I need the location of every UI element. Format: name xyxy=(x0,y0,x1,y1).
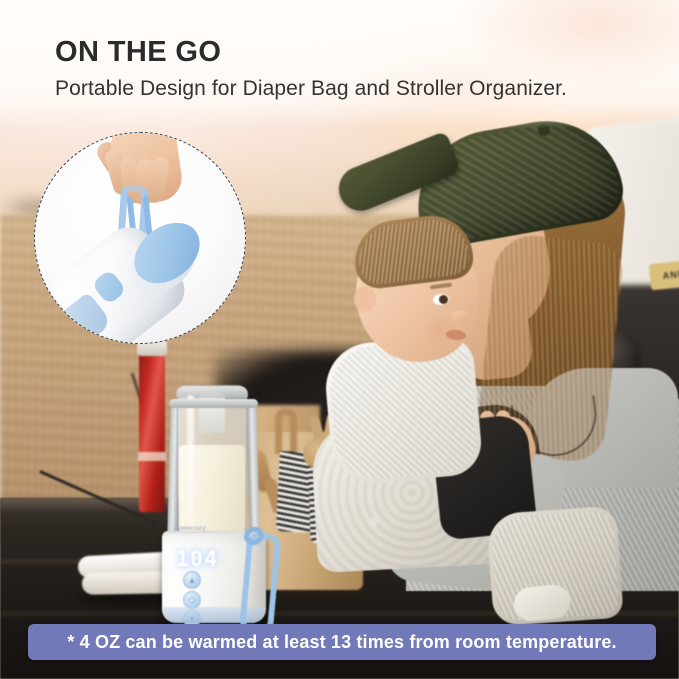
warmer-top-ring xyxy=(162,531,266,541)
baby-hair-texture xyxy=(355,216,471,287)
temperature-display: 104 xyxy=(176,547,218,571)
brand-logo: momcozy xyxy=(174,525,236,534)
mother-hand xyxy=(462,410,541,482)
baby-legs xyxy=(486,506,623,627)
vehicle-dark-body xyxy=(560,285,679,515)
mother-baseball-cap xyxy=(406,109,628,251)
cardboard-box xyxy=(180,405,320,525)
bottle-highlight xyxy=(187,395,194,530)
mother-ear xyxy=(502,254,529,287)
warmer-arm-right xyxy=(246,403,260,537)
baby-hood-texture xyxy=(327,338,480,482)
cap-brim xyxy=(332,131,462,217)
wooden-spoon xyxy=(263,477,285,513)
bunny-ear-right-icon xyxy=(322,412,337,443)
page-subtitle: Portable Design for Diaper Bag and Strol… xyxy=(55,76,567,101)
baby-mouth xyxy=(446,329,467,341)
warmer-base xyxy=(162,533,266,623)
baby-cheek xyxy=(422,316,456,346)
tent-pole xyxy=(39,470,157,525)
diaper-stack-shadow xyxy=(76,590,180,604)
baby-nose xyxy=(452,310,470,324)
truck-bed-shadow xyxy=(215,350,515,530)
baby-foot xyxy=(512,583,571,623)
mother-sweatshirt xyxy=(406,386,679,591)
tailgate-seam xyxy=(0,560,679,564)
mother-hair-strands xyxy=(475,232,625,464)
baby-ear xyxy=(354,286,376,312)
tailgate-seam-secondary xyxy=(0,612,679,615)
baby-sherpa-texture xyxy=(310,413,514,573)
mother-lips xyxy=(434,253,463,277)
baby-hood xyxy=(322,334,484,487)
mother-finger xyxy=(495,409,516,445)
baby-legs-texture xyxy=(491,510,620,622)
diaper-bottom xyxy=(82,571,174,595)
mother-figure xyxy=(318,118,679,588)
mother-face xyxy=(411,175,559,341)
page-title: ON THE GO xyxy=(55,38,221,67)
warmer-arm-top xyxy=(169,399,258,408)
bag-handle xyxy=(275,408,297,454)
mother-necklace xyxy=(511,395,601,461)
vehicle-wheel xyxy=(585,330,641,386)
mother-sweatshirt-texture xyxy=(406,386,679,591)
milk-fill xyxy=(179,445,245,535)
thermos-ring xyxy=(138,452,166,461)
baby-sherpa-blanket xyxy=(310,413,514,573)
bunny-ear-left-icon xyxy=(308,414,325,444)
capacity-banner: * 4 OZ can be warmed at least 13 times f… xyxy=(28,624,656,660)
diaper-bag xyxy=(245,432,363,590)
product-closeup-circle xyxy=(34,132,246,344)
carry-strap xyxy=(239,532,282,639)
wedding-ring xyxy=(481,434,492,442)
baby-dark-sleeve xyxy=(430,413,538,540)
red-thermos xyxy=(139,352,165,512)
baby-eyebrow xyxy=(430,282,452,289)
striped-cloth xyxy=(276,451,322,533)
tent-pole-secondary xyxy=(131,373,155,440)
strap-loop xyxy=(242,524,267,547)
baby-face xyxy=(349,222,484,368)
striped-cloth-secondary xyxy=(307,452,340,545)
temperature-up-button[interactable]: ▲ xyxy=(183,571,201,589)
bag-shadow xyxy=(245,560,363,594)
baby-hair xyxy=(350,211,475,291)
bottle-collar xyxy=(176,386,248,398)
baby-figure xyxy=(318,118,568,588)
bottle-warmer-product: momcozy 104 ▲ ⏻ ▼ xyxy=(160,385,270,620)
mother-cap-texture xyxy=(411,114,623,247)
diaper-top xyxy=(77,552,172,579)
mother-hair xyxy=(455,158,629,470)
product-marketing-image: ANI xyxy=(0,0,679,679)
power-button[interactable]: ⏻ xyxy=(183,591,201,609)
mother-arm xyxy=(383,439,567,596)
baby-eye xyxy=(432,293,449,306)
warmer-arm-left xyxy=(167,403,181,537)
warmer-foot xyxy=(163,607,265,623)
mother-nose xyxy=(429,233,458,259)
mother-finger xyxy=(478,409,504,446)
tailgate-lip xyxy=(0,498,679,514)
mother-finger xyxy=(464,413,495,449)
bottle-nipple xyxy=(199,393,225,433)
baby-bottle-glass xyxy=(177,385,247,537)
mother-dark-underlayer xyxy=(429,399,546,516)
mother-shoulder xyxy=(528,368,678,488)
baby-pupil xyxy=(439,295,448,304)
bag-handle-secondary xyxy=(249,449,273,493)
knitted-bunny-toy xyxy=(303,438,339,470)
mother-neck xyxy=(454,289,535,382)
vehicle-badge: ANI xyxy=(649,260,679,290)
vehicle-panel xyxy=(586,114,679,426)
